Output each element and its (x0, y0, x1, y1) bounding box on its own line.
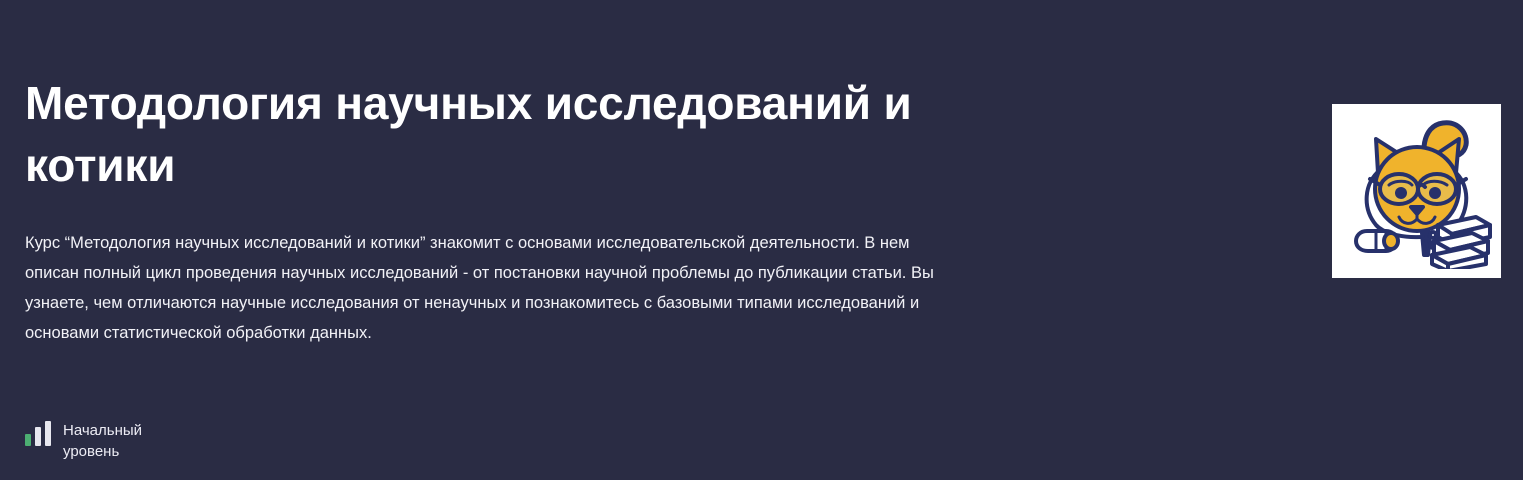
course-description: Курс “Методология научных исследований и… (25, 228, 955, 348)
level-bar-2 (35, 427, 41, 446)
cat-with-books-icon (1342, 113, 1492, 269)
course-hero-banner: Методология научных исследований и котик… (0, 0, 1523, 480)
course-level-label: Начальный уровень (63, 420, 159, 462)
course-level-badge: Начальный уровень (25, 420, 159, 462)
course-logo (1330, 102, 1503, 280)
hero-content: Методология научных исследований и котик… (25, 0, 1025, 480)
page-title: Методология научных исследований и котик… (25, 72, 985, 196)
level-bar-1 (25, 434, 31, 446)
level-bar-3 (45, 421, 51, 446)
bar-level-icon (25, 420, 51, 446)
